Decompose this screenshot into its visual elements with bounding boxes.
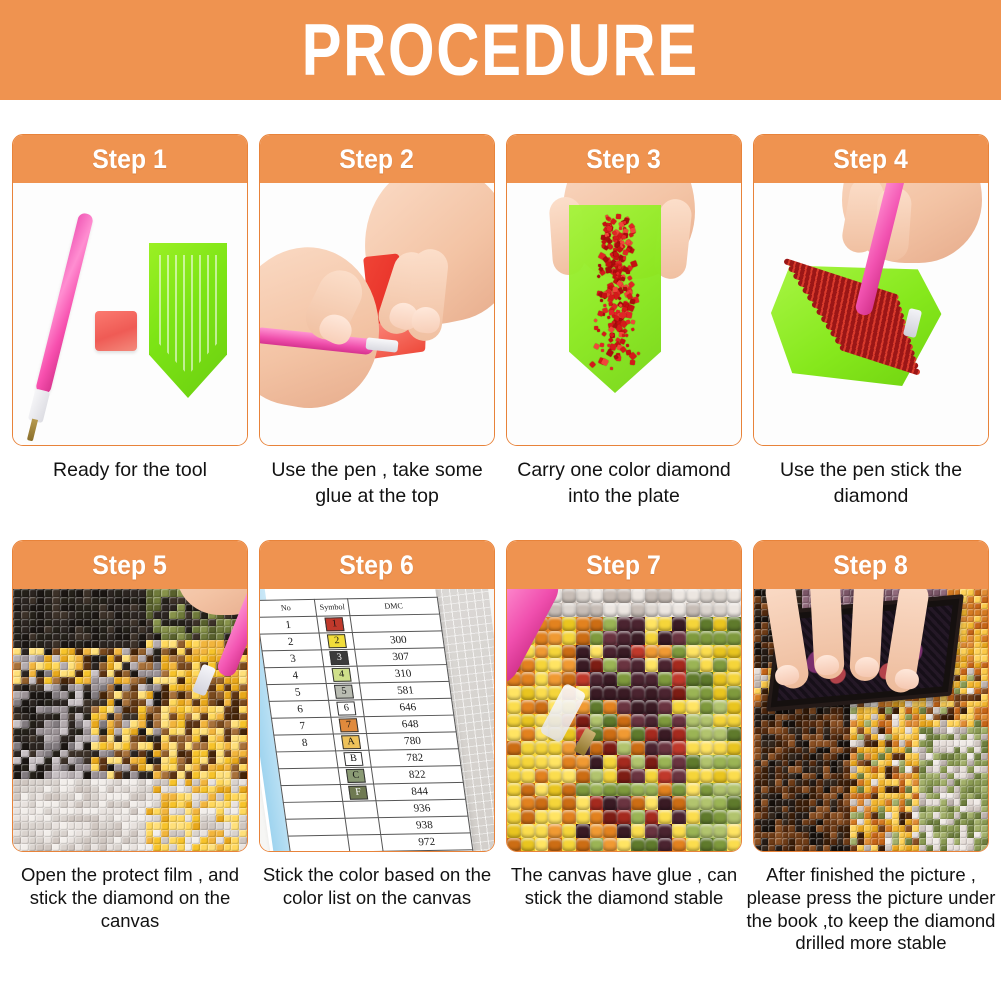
step-cell-8: Step 8 After finished the pi — [753, 540, 989, 954]
chart-symbol-swatch: 2 — [327, 635, 347, 649]
step-caption-7: The canvas have glue , can stick the dia… — [499, 864, 749, 909]
step-card-1[interactable]: Step 1 — [12, 134, 248, 446]
chart-cell-symbol: A — [333, 734, 369, 751]
chart-cell-dmc: 031 — [383, 850, 475, 851]
step-caption-5: Open the protect film , and stick the di… — [5, 864, 255, 932]
chart-cell-symbol: 1 — [317, 616, 353, 633]
chart-cell-symbol: 2 — [319, 633, 355, 650]
chart-cell-no: 1 — [260, 617, 319, 635]
chart-cell-symbol: B — [336, 751, 372, 768]
step-card-7[interactable]: Step 7 — [506, 540, 742, 852]
step-image-4 — [754, 183, 988, 445]
chart-column-header: Symbol — [314, 599, 350, 616]
chart-column-header: No — [260, 600, 317, 618]
step-header-5: Step 5 — [13, 541, 247, 589]
step-card-3[interactable]: Step 3 — [506, 134, 742, 446]
chart-symbol-swatch: B — [344, 752, 364, 766]
steps-grid: Step 1 Ready for the tool — [0, 134, 1001, 955]
step-image-5 — [13, 589, 247, 851]
chart-symbol-swatch: A — [341, 736, 361, 750]
chart-cell-symbol — [345, 818, 381, 835]
chart-symbol-swatch: F — [348, 786, 368, 800]
chart-cell-symbol: 4 — [324, 667, 360, 684]
chart-cell-no: 8 — [274, 735, 336, 753]
chart-row: 972 — [288, 833, 473, 851]
chart-cell-no: 3 — [262, 650, 324, 668]
step-header-label-2: Step 2 — [340, 146, 415, 173]
red-diamond-drills — [573, 211, 657, 381]
chart-symbol-swatch: C — [346, 769, 366, 783]
pink-pen-icon — [35, 212, 94, 395]
round-drills-illustration — [507, 589, 741, 851]
chart-cell-no: 4 — [264, 667, 326, 685]
step-header-2: Step 2 — [260, 135, 494, 183]
chart-cell-symbol: 5 — [326, 683, 362, 700]
chart-cell-no — [276, 751, 338, 769]
step-card-8[interactable]: Step 8 — [753, 540, 989, 852]
pen-nib-icon — [27, 419, 38, 442]
step-cell-5: Step 5 Open the protect film , and stick… — [12, 540, 248, 932]
step-image-2 — [260, 183, 494, 445]
step-image-6: NoSymbolDMC11223003330744310555816664677… — [260, 589, 494, 851]
step-header-6: Step 6 — [260, 541, 494, 589]
chart-cell-symbol: C — [338, 768, 374, 785]
step-card-6[interactable]: Step 6 NoSymbolDMC1122300333074431055581… — [259, 540, 495, 852]
chart-cell-no — [281, 785, 343, 803]
step-header-7: Step 7 — [507, 541, 741, 589]
tray-with-drills-illustration — [507, 183, 741, 445]
step-card-4[interactable]: Step 4 — [753, 134, 989, 446]
chart-cell-no: 5 — [267, 684, 329, 702]
chart-cell-no — [288, 836, 350, 852]
step-header-3: Step 3 — [507, 135, 741, 183]
step-cell-7: Step 7 The canvas have glue , can stick … — [506, 540, 742, 909]
step-header-4: Step 4 — [754, 135, 988, 183]
steps-row-2: Step 5 Open the protect film , and stick… — [12, 540, 989, 954]
step-caption-6: Stick the color based on the color list … — [252, 864, 502, 909]
chart-cell-symbol: 3 — [322, 650, 358, 667]
hands-icon — [764, 589, 954, 681]
step-header-label-6: Step 6 — [340, 552, 415, 579]
chart-symbol-swatch: 3 — [329, 651, 349, 665]
hands-glue-illustration — [260, 183, 494, 445]
step-header-8: Step 8 — [754, 541, 988, 589]
chart-cell-no: 6 — [269, 701, 331, 719]
step-image-8 — [754, 589, 988, 851]
step-header-label-8: Step 8 — [834, 552, 909, 579]
chart-symbol-swatch: 4 — [332, 668, 352, 682]
chart-cell-symbol — [348, 835, 384, 852]
step-cell-1: Step 1 Ready for the tool — [12, 134, 248, 484]
step-caption-1: Ready for the tool — [5, 458, 255, 484]
step-image-3 — [507, 183, 741, 445]
chart-symbol-swatch: 1 — [325, 618, 345, 632]
fingernail-icon — [854, 657, 879, 678]
glue-square-icon — [95, 311, 137, 351]
chart-cell-symbol — [343, 801, 379, 818]
step-header-1: Step 1 — [13, 135, 247, 183]
step-header-label-4: Step 4 — [834, 146, 909, 173]
page-banner: PROCEDURE — [0, 0, 1001, 100]
step-cell-4: Step 4 Use the pen stick the diamond — [753, 134, 989, 509]
chart-cell-symbol: 7 — [331, 717, 367, 734]
step-caption-2: Use the pen , take some glue at the top — [252, 458, 502, 509]
steps-row-1: Step 1 Ready for the tool — [12, 134, 989, 509]
chart-cell-no — [279, 768, 341, 786]
step-header-label-3: Step 3 — [587, 146, 662, 173]
chart-cell-dmc: 972 — [381, 833, 473, 851]
step-caption-3: Carry one color diamond into the plate — [499, 458, 749, 509]
step-card-2[interactable]: Step 2 — [259, 134, 495, 446]
tool-set-illustration — [13, 183, 247, 445]
chart-symbol-swatch: 6 — [336, 702, 356, 716]
chart-symbol-swatch: 7 — [339, 719, 359, 733]
chart-cell-symbol: 6 — [329, 700, 365, 717]
pen-picking-drill-illustration — [754, 183, 988, 445]
step-cell-3: Step 3 Carry one color diamond into the … — [506, 134, 742, 509]
page-title: PROCEDURE — [302, 14, 699, 87]
pressing-book-illustration — [754, 589, 988, 851]
chart-cell-no: 7 — [271, 718, 333, 736]
chart-symbol-swatch: 5 — [334, 685, 354, 699]
color-chart-illustration: NoSymbolDMC11223003330744310555816664677… — [260, 589, 494, 851]
step-cell-6: Step 6 NoSymbolDMC1122300333074431055581… — [259, 540, 495, 909]
step-header-label-7: Step 7 — [587, 552, 662, 579]
chart-cell-no — [283, 802, 345, 820]
step-cell-2: Step 2 — [259, 134, 495, 509]
step-header-label-5: Step 5 — [93, 552, 168, 579]
step-caption-8: After finished the picture , please pres… — [746, 864, 996, 954]
chart-cell-no — [286, 819, 348, 837]
chart-cell-symbol: F — [340, 784, 376, 801]
step-card-5[interactable]: Step 5 — [12, 540, 248, 852]
sunflower-canvas-illustration — [13, 589, 247, 851]
diamond-mosaic — [13, 589, 247, 851]
step-header-label-1: Step 1 — [93, 146, 168, 173]
step-image-1 — [13, 183, 247, 445]
step-caption-4: Use the pen stick the diamond — [746, 458, 996, 509]
round-bead-grid — [507, 589, 741, 851]
chart-cell-no: 2 — [260, 634, 322, 652]
step-image-7 — [507, 589, 741, 851]
